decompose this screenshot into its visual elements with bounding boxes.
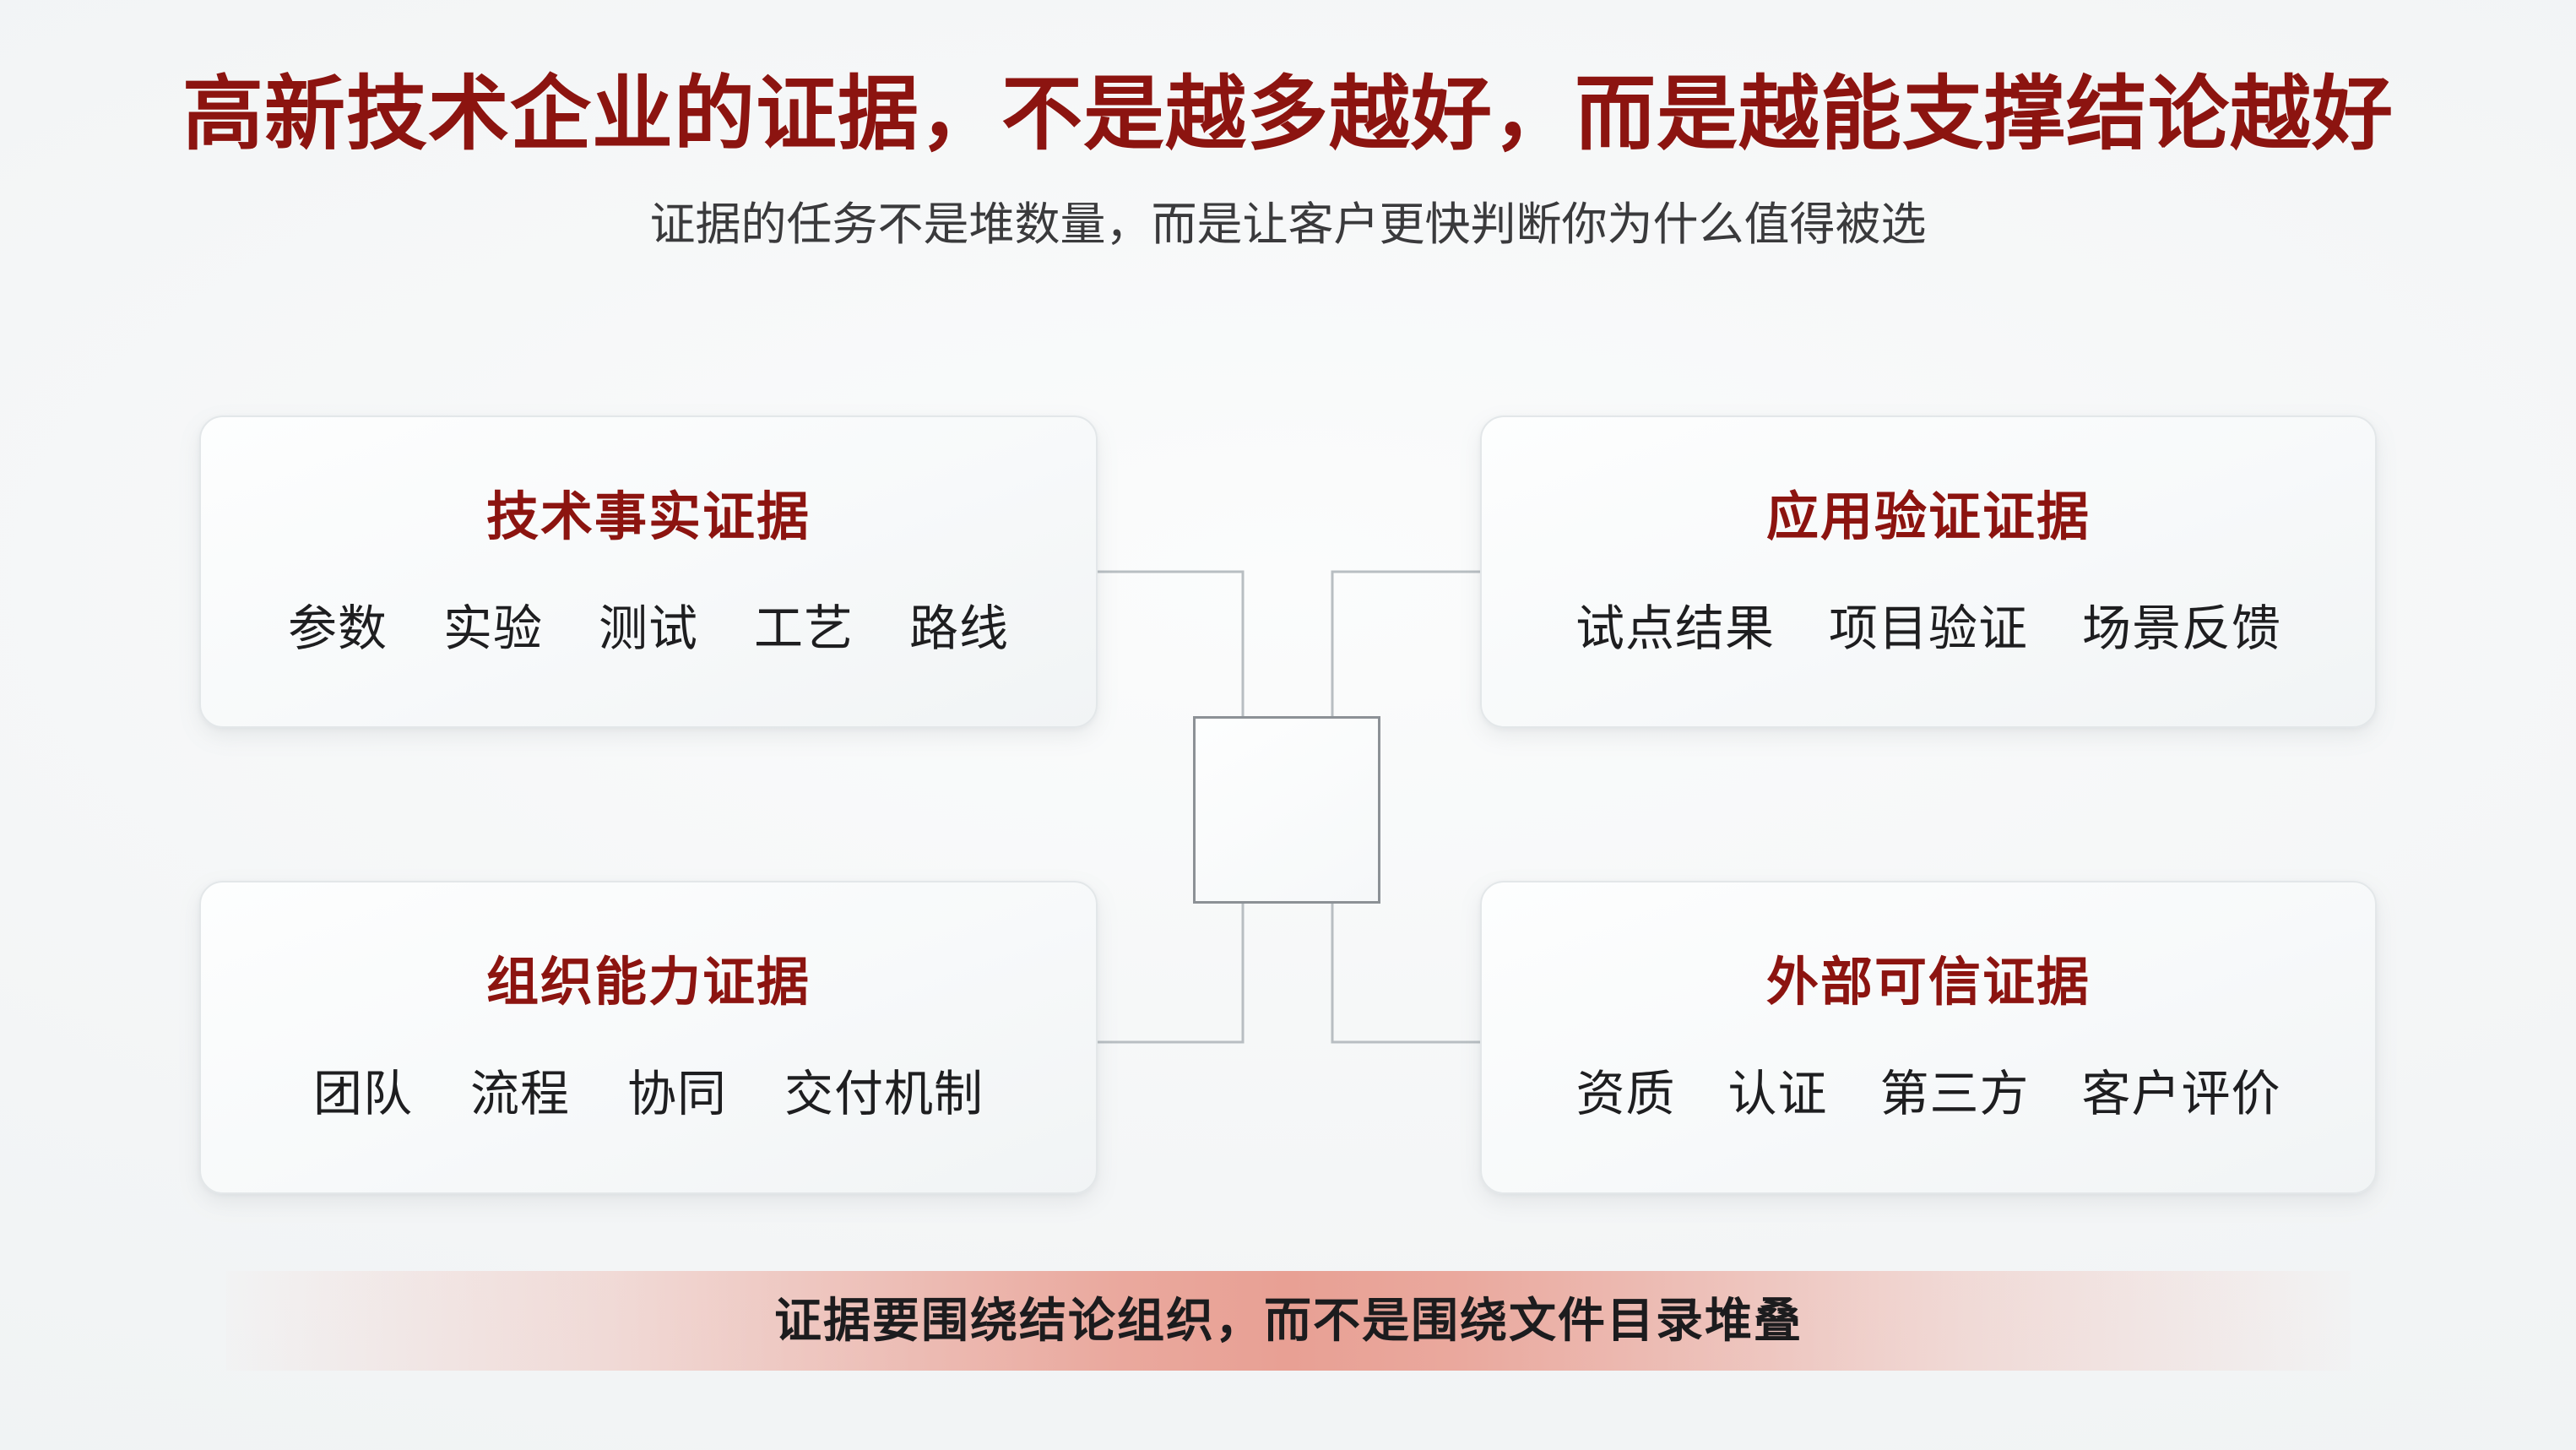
- card-item: 第三方: [1880, 1070, 2030, 1119]
- card-title: 组织能力证据: [486, 957, 811, 1009]
- card-item: 协同: [627, 1070, 727, 1119]
- card-item: 交付机制: [784, 1070, 984, 1119]
- evidence-diagram: 技术事实证据 参数 实验 测试 工艺 路线 应用验证证据 试点结果 项目验证 场…: [0, 0, 2576, 1450]
- card-item-list: 资质 认证 第三方 客户评价: [1549, 1070, 2307, 1119]
- card-item: 路线: [909, 605, 1009, 654]
- card-title: 技术事实证据: [486, 491, 811, 544]
- card-item: 客户评价: [2082, 1070, 2281, 1119]
- card-item-list: 试点结果 项目验证 场景反馈: [1548, 605, 2308, 654]
- conclusion-banner-text: 证据要围绕结论组织，而不是围绕文件目录堆叠: [774, 1297, 1803, 1344]
- conclusion-banner: 证据要围绕结论组织，而不是围绕文件目录堆叠: [226, 1271, 2351, 1371]
- card-item: 参数: [288, 605, 388, 654]
- evidence-card-external-credibility[interactable]: 外部可信证据 资质 认证 第三方 客户评价: [1480, 881, 2377, 1194]
- card-title: 外部可信证据: [1766, 957, 2091, 1009]
- card-item: 测试: [599, 605, 698, 654]
- slide-canvas: 高新技术企业的证据，不是越多越好，而是越能支撑结论越好 证据的任务不是堆数量，而…: [0, 0, 2576, 1450]
- central-hub-box: [1193, 716, 1380, 904]
- card-item-list: 参数 实验 测试 工艺 路线: [260, 605, 1037, 654]
- card-title: 应用验证证据: [1766, 491, 2091, 544]
- card-item: 资质: [1575, 1070, 1675, 1119]
- connector-app-to-hub: [1332, 572, 1480, 716]
- card-item: 场景反馈: [2082, 605, 2281, 654]
- card-item: 项目验证: [1829, 605, 2028, 654]
- evidence-card-organizational-capability[interactable]: 组织能力证据 团队 流程 协同 交付机制: [199, 881, 1098, 1194]
- card-item: 工艺: [754, 605, 854, 654]
- card-item: 实验: [443, 605, 543, 654]
- connector-ext-to-hub: [1332, 904, 1480, 1042]
- connector-org-to-hub: [1098, 904, 1243, 1042]
- card-item: 流程: [470, 1070, 570, 1119]
- card-item-list: 团队 流程 协同 交付机制: [285, 1070, 1012, 1119]
- evidence-card-application-validation[interactable]: 应用验证证据 试点结果 项目验证 场景反馈: [1480, 415, 2377, 728]
- card-item: 认证: [1727, 1070, 1827, 1119]
- evidence-card-technical-facts[interactable]: 技术事实证据 参数 实验 测试 工艺 路线: [199, 415, 1098, 728]
- card-item: 团队: [313, 1070, 413, 1119]
- card-item: 试点结果: [1575, 605, 1775, 654]
- connector-tech-to-hub: [1098, 572, 1243, 716]
